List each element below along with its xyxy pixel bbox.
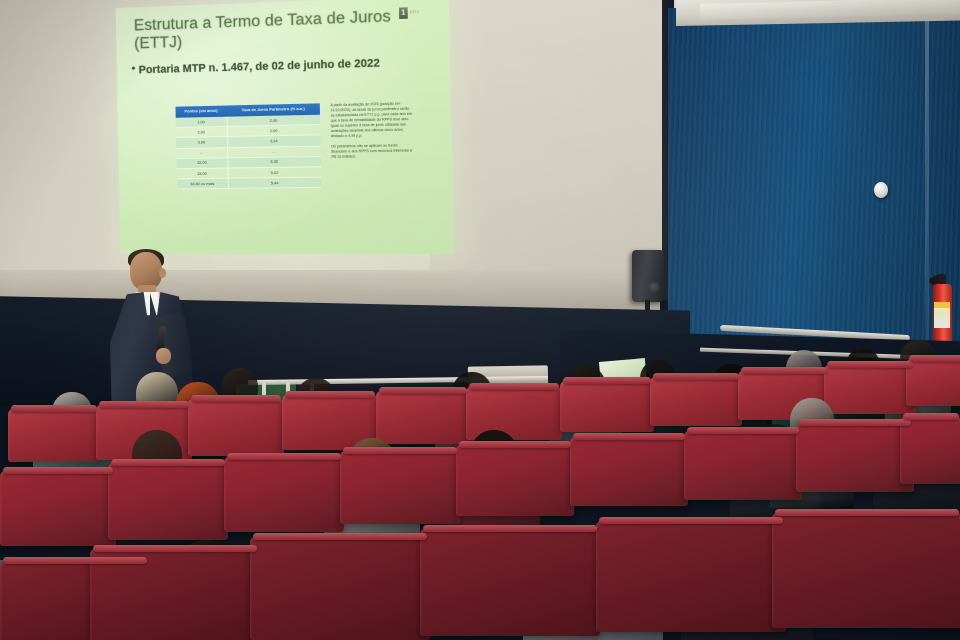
seat-top-rail xyxy=(653,373,739,380)
auditorium-seat xyxy=(224,456,344,532)
seat-top-rail xyxy=(599,517,783,524)
slide-table-cell: 34,00 ou mais xyxy=(177,178,228,189)
slide-table-cell: 5,44 xyxy=(228,177,321,188)
auditorium-presentation-photo: 1 ETTJ Estrutura a Termo de Taxa de Juro… xyxy=(0,0,960,640)
slide-table-row: 34,00 ou mais5,44 xyxy=(177,177,322,189)
seat-top-rail xyxy=(469,383,559,390)
auditorium-seat xyxy=(456,444,574,516)
slide-table-cell: 32,00 xyxy=(176,158,227,169)
auditorium-seat xyxy=(420,528,600,636)
slide-bullet: Portaria MTP n. 1.467, de 02 de junho de… xyxy=(139,55,420,77)
auditorium-seat xyxy=(340,450,460,524)
slide-title: Estrutura a Termo de Taxa de Juros (ETTJ… xyxy=(134,7,413,54)
projected-slide: 1 ETTJ Estrutura a Termo de Taxa de Juro… xyxy=(116,0,454,254)
slide-table-cell: 33,00 xyxy=(177,168,228,179)
seat-top-rail xyxy=(741,367,827,374)
slide-table: Pontos (em anos)Taxa de Juros Parâmetro … xyxy=(175,103,321,189)
seat-top-rail xyxy=(11,405,97,412)
seat-top-rail xyxy=(227,453,341,460)
auditorium-seat xyxy=(772,512,960,628)
auditorium-seat xyxy=(376,390,470,444)
seat-top-rail xyxy=(343,447,457,454)
rail-post xyxy=(262,382,266,396)
seat-top-rail xyxy=(573,433,685,440)
auditorium-seat xyxy=(796,422,914,492)
seat-top-rail xyxy=(99,401,189,408)
wall-knob-icon xyxy=(874,182,888,198)
seat-top-rail xyxy=(563,377,651,384)
seat-top-rail xyxy=(191,395,281,402)
seat-top-rail xyxy=(687,427,799,434)
auditorium-seat xyxy=(684,430,802,500)
fire-extinguisher-icon xyxy=(931,272,953,350)
seat-top-rail xyxy=(799,419,911,426)
seat-top-rail xyxy=(285,391,375,398)
slide-paragraph-block: A partir da avaliação de 2023 (posição e… xyxy=(330,101,415,165)
seat-top-rail xyxy=(827,361,913,368)
seat-top-rail xyxy=(903,413,959,420)
auditorium-seat xyxy=(570,436,688,506)
auditorium-seat xyxy=(188,398,284,456)
auditorium-seat xyxy=(250,536,430,640)
seat-top-rail xyxy=(111,459,225,466)
seat-top-rail xyxy=(3,467,113,474)
auditorium-seat xyxy=(560,380,654,432)
auditorium-seat xyxy=(108,462,228,540)
pa-speaker-icon xyxy=(632,250,666,318)
presenter-hand xyxy=(156,348,171,364)
seat-top-rail xyxy=(909,355,960,362)
auditorium-seat xyxy=(906,358,960,406)
auditorium-seat xyxy=(596,520,786,632)
seat-top-rail xyxy=(775,509,959,516)
presenter-ear xyxy=(159,268,166,278)
slide-table-body: 1,002,902,002,903,003,34......32,005,353… xyxy=(176,115,322,190)
blue-wall-seam xyxy=(925,10,929,350)
seat-top-rail xyxy=(3,557,147,564)
slide-table-cell: ... xyxy=(176,147,227,158)
seat-top-rail xyxy=(379,387,467,394)
auditorium-seat xyxy=(824,364,916,414)
slide-paragraph: A partir da avaliação de 2023 (posição e… xyxy=(330,101,414,139)
seat-top-rail xyxy=(423,525,597,532)
seat-top-rail xyxy=(93,545,257,552)
auditorium-seat xyxy=(8,408,100,462)
auditorium-seat xyxy=(900,416,960,484)
slide-paragraph: Os parâmetros não se aplicam ao fundo fi… xyxy=(331,143,415,160)
auditorium-seat xyxy=(0,470,116,546)
seat-top-rail xyxy=(459,441,571,448)
auditorium-seat xyxy=(466,386,562,440)
auditorium-seat xyxy=(650,376,742,426)
seat-top-rail xyxy=(253,533,427,540)
